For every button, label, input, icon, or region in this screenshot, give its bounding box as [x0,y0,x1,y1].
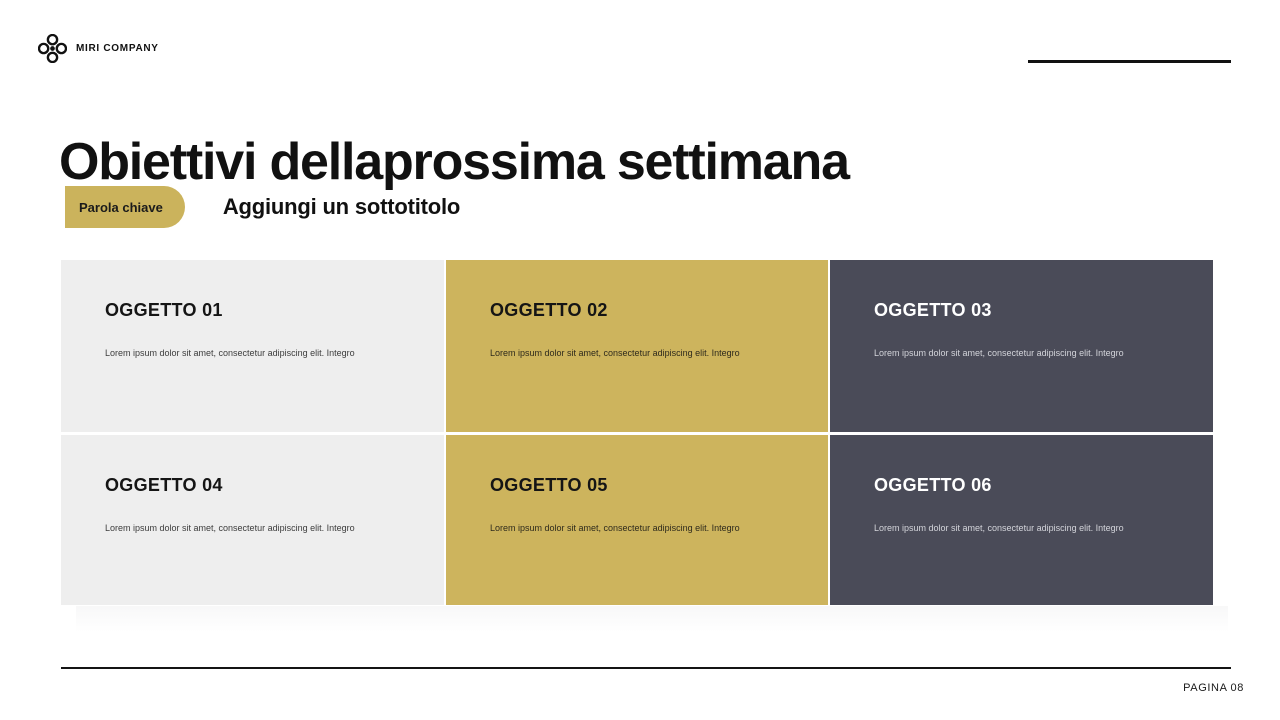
keyword-badge: Parola chiave [65,186,185,228]
footer-rule [61,667,1231,669]
objective-card-02[interactable]: OGGETTO 02 Lorem ipsum dolor sit amet, c… [444,260,828,432]
card-body: Lorem ipsum dolor sit amet, consectetur … [105,347,400,361]
card-body: Lorem ipsum dolor sit amet, consectetur … [490,347,784,361]
brand-lockup: MIRI COMPANY [38,34,159,63]
objective-card-03[interactable]: OGGETTO 03 Lorem ipsum dolor sit amet, c… [828,260,1213,432]
header-rule [1028,60,1231,63]
card-body: Lorem ipsum dolor sit amet, consectetur … [874,347,1169,361]
page-subtitle: Aggiungi un sottotitolo [223,194,460,220]
slide-header: MIRI COMPANY [0,0,1280,80]
card-title: OGGETTO 05 [490,475,784,496]
card-body: Lorem ipsum dolor sit amet, consectetur … [874,522,1169,536]
page-title: Obiettivi dellaprossima settimana [59,133,849,193]
card-title: OGGETTO 06 [874,475,1169,496]
card-title: OGGETTO 02 [490,300,784,321]
objective-card-06[interactable]: OGGETTO 06 Lorem ipsum dolor sit amet, c… [828,432,1213,605]
card-body: Lorem ipsum dolor sit amet, consectetur … [105,522,400,536]
card-title: OGGETTO 03 [874,300,1169,321]
objective-card-04[interactable]: OGGETTO 04 Lorem ipsum dolor sit amet, c… [61,432,444,605]
objectives-grid: OGGETTO 01 Lorem ipsum dolor sit amet, c… [61,260,1213,605]
subtitle-row: Parola chiave Aggiungi un sottotitolo [65,186,460,228]
card-title: OGGETTO 04 [105,475,400,496]
objective-card-01[interactable]: OGGETTO 01 Lorem ipsum dolor sit amet, c… [61,260,444,432]
brand-name: MIRI COMPANY [76,43,159,54]
page-number: PAGINA 08 [1183,682,1244,694]
card-body: Lorem ipsum dolor sit amet, consectetur … [490,522,784,536]
card-title: OGGETTO 01 [105,300,400,321]
objective-card-05[interactable]: OGGETTO 05 Lorem ipsum dolor sit amet, c… [444,432,828,605]
four-circle-cluster-logo-icon [38,34,67,63]
grid-drop-shadow [76,606,1228,632]
